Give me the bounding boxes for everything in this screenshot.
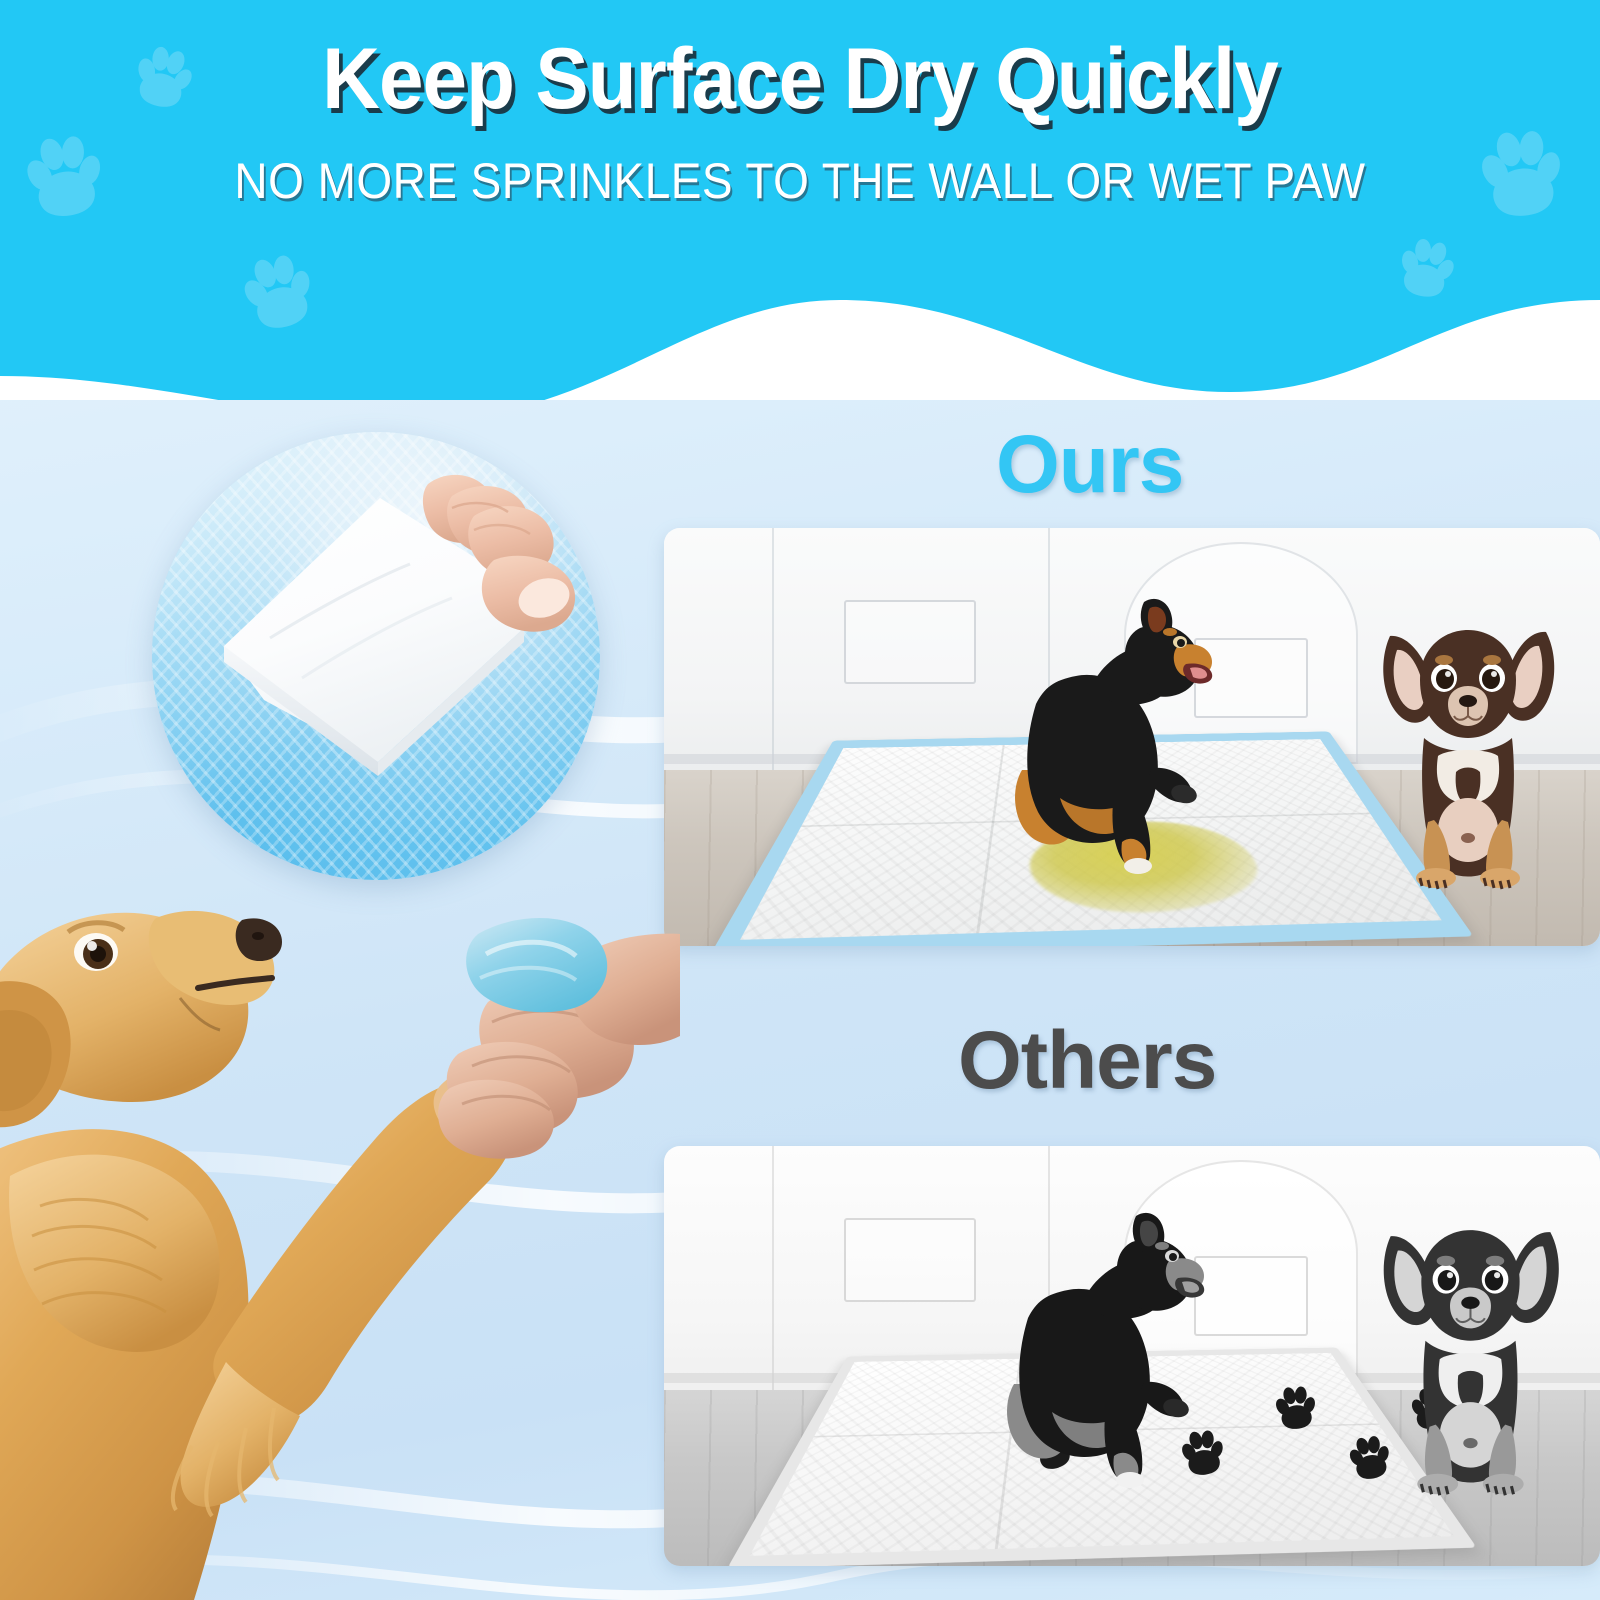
comparison-panel-ours bbox=[664, 528, 1600, 946]
product-infographic: Keep Surface Dry Quickly NO MORE SPRINKL… bbox=[0, 0, 1600, 1600]
wall-panel bbox=[844, 600, 976, 684]
wall-seam bbox=[772, 1146, 774, 1390]
comparison-panel-others bbox=[664, 1146, 1600, 1566]
dog-chihuahua-others bbox=[1364, 1204, 1579, 1504]
page-subtitle: NO MORE SPRINKLES TO THE WALL OR WET PAW bbox=[64, 156, 1536, 206]
label-ours: Ours bbox=[996, 424, 1183, 506]
header-banner: Keep Surface Dry Quickly NO MORE SPRINKL… bbox=[0, 0, 1600, 400]
dog-chihuahua-ours bbox=[1364, 606, 1574, 896]
page-title: Keep Surface Dry Quickly bbox=[56, 36, 1544, 122]
wall-seam bbox=[772, 528, 774, 770]
dog-terrier-puppy-ours bbox=[964, 584, 1214, 884]
label-others: Others bbox=[958, 1020, 1216, 1102]
wet-pawprint-4 bbox=[1272, 1382, 1319, 1432]
product-inset-absorbent-layer bbox=[152, 432, 600, 880]
dog-terrier-puppy-others bbox=[956, 1198, 1206, 1498]
hero-golden-retriever bbox=[0, 876, 680, 1600]
paw-print-decor-4 bbox=[1393, 232, 1459, 303]
wall-panel bbox=[1194, 1256, 1308, 1336]
